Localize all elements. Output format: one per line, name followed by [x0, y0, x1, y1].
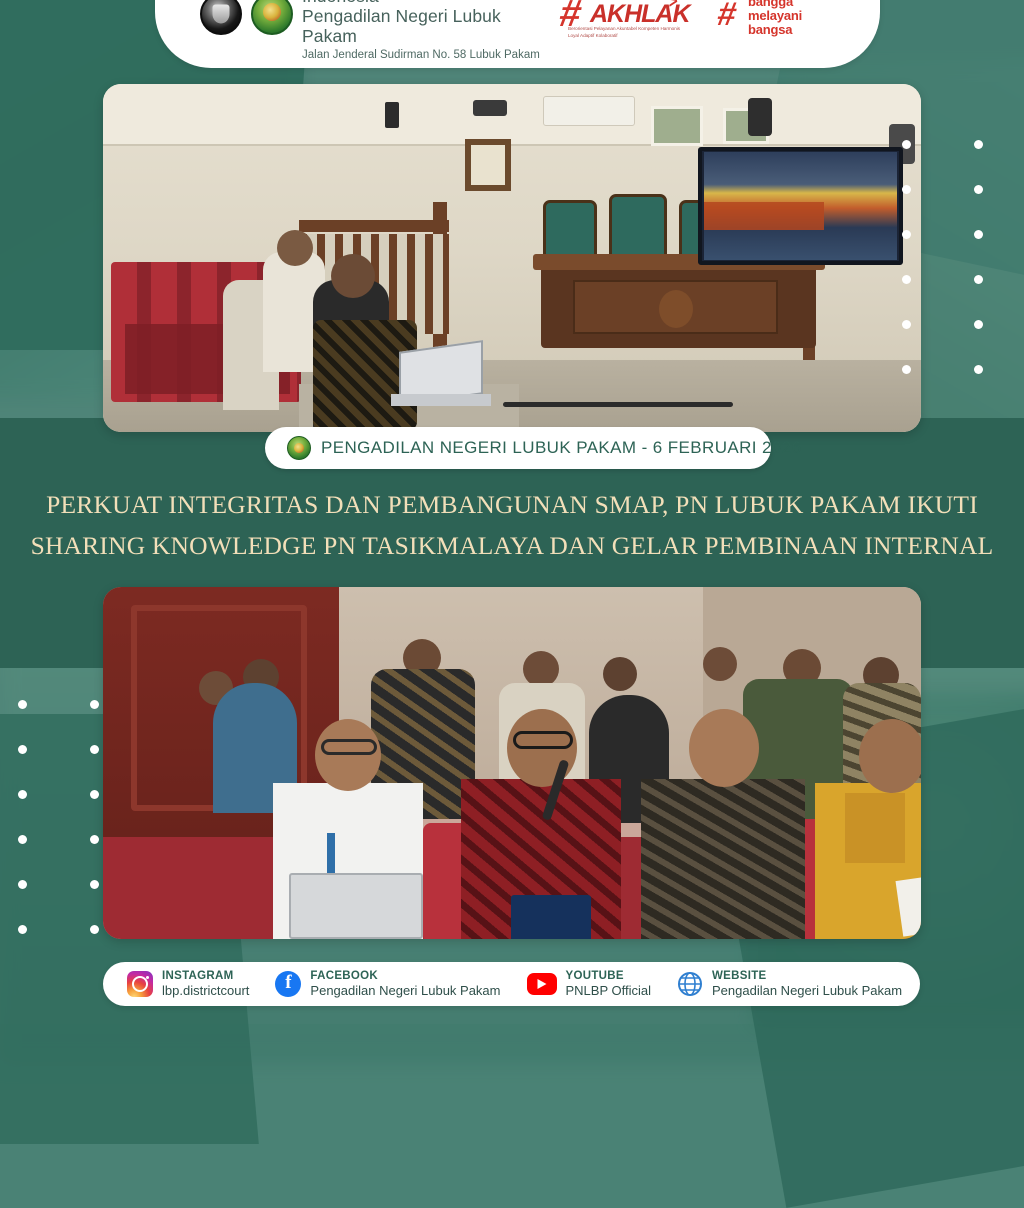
youtube-label: YOUTUBE	[566, 970, 652, 983]
dot	[18, 790, 27, 799]
akhlak-logo-wrap: # Ber AKHLAK > Berorientasi Pelayanan Ak…	[560, 0, 688, 37]
akhlak-tagline-text: Berorientasi Pelayanan Akuntabel Kompete…	[568, 26, 688, 40]
dot	[902, 365, 911, 374]
dot	[18, 745, 27, 754]
dot	[18, 880, 27, 889]
dot	[974, 230, 983, 239]
scene-wall-frame	[465, 139, 511, 191]
youtube-text: YOUTUBE PNLBP Official	[566, 970, 652, 998]
scene-window-1	[651, 106, 703, 146]
website-text: WEBSITE Pengadilan Negeri Lubuk Pakam	[712, 970, 902, 998]
audience-back-head-4	[523, 651, 559, 687]
mahkamah-agung-seal-icon	[251, 0, 293, 35]
audience-front-attendee-3-head	[689, 709, 759, 787]
audience-back-head-5	[603, 657, 637, 691]
dot	[90, 835, 99, 844]
page-title-line-1: PERKUAT INTEGRITAS DAN PEMBANGUNAN SMAP,…	[28, 484, 996, 525]
date-badge-seal-icon	[287, 436, 311, 460]
date-badge: PENGADILAN NEGERI LUBUK PAKAM - 6 FEBRUA…	[265, 427, 771, 469]
header-text-block: Mahkamah Agung Republik Indonesia Pengad…	[302, 0, 551, 62]
scene-bench-emblem	[659, 290, 693, 328]
footer-social-bar: INSTAGRAM lbp.districtcourt FACEBOOK Pen…	[103, 962, 920, 1006]
header-bar: Mahkamah Agung Republik Indonesia Pengad…	[155, 0, 880, 68]
social-item-youtube[interactable]: YOUTUBE PNLBP Official	[527, 970, 652, 998]
dot	[902, 185, 911, 194]
dot	[974, 140, 983, 149]
header-address: Jalan Jenderal Sudirman No. 58 Lubuk Pak…	[302, 49, 551, 62]
dot	[974, 275, 983, 284]
scene-rail-top	[299, 220, 449, 232]
header-court-name: Pengadilan Negeri Lubuk Pakam	[302, 6, 551, 47]
audience-front-attendee-3-body	[641, 779, 805, 939]
scene-ceiling	[103, 84, 921, 146]
dot	[902, 275, 911, 284]
audience-speaker-folder	[511, 895, 591, 939]
dot	[974, 185, 983, 194]
audience-front-attendee-4-scarf	[845, 793, 905, 863]
bangga-melayani-bangsa-logo-icon: # bangga melayani bangsa	[718, 0, 822, 37]
scene-television-banner	[704, 202, 824, 230]
dot	[90, 880, 99, 889]
website-label: WEBSITE	[712, 970, 902, 983]
bangga-words-block: bangga melayani bangsa	[748, 0, 802, 37]
website-icon[interactable]	[677, 971, 703, 997]
dot	[18, 700, 27, 709]
facebook-icon[interactable]	[275, 971, 301, 997]
bangga-hash-glyph: #	[715, 0, 737, 30]
audience-scene	[103, 587, 921, 939]
youtube-icon[interactable]	[527, 973, 557, 995]
facebook-text: FACEBOOK Pengadilan Negeri Lubuk Pakam	[310, 970, 500, 998]
facebook-handle: Pengadilan Negeri Lubuk Pakam	[310, 983, 500, 998]
scene-laptop-base	[391, 394, 491, 406]
dot-grid-right	[902, 140, 1010, 374]
date-badge-text: PENGADILAN NEGERI LUBUK PAKAM - 6 FEBRUA…	[321, 438, 801, 458]
dot	[90, 745, 99, 754]
social-item-instagram[interactable]: INSTAGRAM lbp.districtcourt	[127, 970, 249, 998]
scene-camera-2	[385, 102, 399, 128]
instagram-label: INSTAGRAM	[162, 970, 249, 983]
bangga-line-3: bangsa	[748, 23, 802, 37]
dot	[90, 925, 99, 934]
dot	[974, 365, 983, 374]
dot	[90, 700, 99, 709]
audience-front-attendee-1-laptop	[289, 873, 423, 939]
audience-back-head-6	[703, 647, 737, 681]
dot	[18, 835, 27, 844]
dot	[902, 140, 911, 149]
photo-audience-internal-meeting	[103, 587, 921, 939]
dot-grid-left	[18, 700, 126, 934]
social-item-website[interactable]: WEBSITE Pengadilan Negeri Lubuk Pakam	[677, 970, 902, 998]
instagram-handle: lbp.districtcourt	[162, 983, 249, 998]
dot	[902, 230, 911, 239]
scene-projector	[748, 98, 772, 136]
scene-camera	[473, 100, 507, 116]
social-item-facebook[interactable]: FACEBOOK Pengadilan Negeri Lubuk Pakam	[275, 970, 500, 998]
header-campaign-logos: # Ber AKHLAK > Berorientasi Pelayanan Ak…	[560, 0, 880, 37]
scene-attendee-1-head	[331, 254, 375, 298]
audience-front-attendee-1-head	[315, 719, 381, 791]
instagram-text: INSTAGRAM lbp.districtcourt	[162, 970, 249, 998]
website-handle: Pengadilan Negeri Lubuk Pakam	[712, 983, 902, 998]
page-title: PERKUAT INTEGRITAS DAN PEMBANGUNAN SMAP,…	[0, 484, 1024, 567]
bangga-line-2: melayani	[748, 9, 802, 23]
scene-cable	[503, 402, 733, 407]
dot	[90, 790, 99, 799]
audience-front-attendee-4-head	[859, 719, 921, 793]
scene-air-conditioner	[543, 96, 635, 126]
audience-speaker-glasses	[513, 731, 573, 749]
header-content: Mahkamah Agung Republik Indonesia Pengad…	[155, 0, 880, 62]
audience-front-attendee-1-glasses	[321, 739, 377, 755]
dot	[902, 320, 911, 329]
photo-courtroom-videoconference	[103, 84, 921, 432]
courtroom-scene	[103, 84, 921, 432]
pemkab-logo-icon	[200, 0, 242, 35]
scene-attendee-2-head	[277, 230, 313, 266]
dot	[974, 320, 983, 329]
facebook-label: FACEBOOK	[310, 970, 500, 983]
dot	[18, 925, 27, 934]
page-title-line-2: SHARING KNOWLEDGE PN TASIKMALAYA DAN GEL…	[28, 525, 996, 566]
berakhlak-logo-icon: # Ber AKHLAK > Berorientasi Pelayanan Ak…	[560, 0, 688, 37]
instagram-icon[interactable]	[127, 971, 153, 997]
youtube-handle: PNLBP Official	[566, 983, 652, 998]
